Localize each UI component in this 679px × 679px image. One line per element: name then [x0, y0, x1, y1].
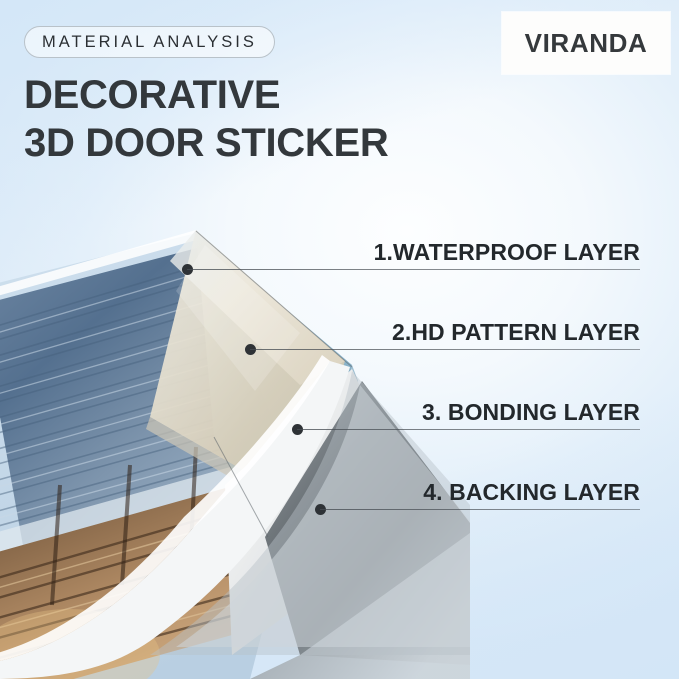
- callout-rule-bonding: [297, 429, 640, 430]
- kicker-label: MATERIAL ANALYSIS: [42, 33, 257, 52]
- material-analysis-infographic: 1.WATERPROOF LAYER 2.HD PATTERN LAYER 3.…: [0, 0, 679, 679]
- callout-rule-waterproof: [187, 269, 640, 270]
- page-title-line-2: 3D DOOR STICKER: [24, 123, 388, 163]
- brand-logo-box: VIRANDA: [502, 12, 670, 74]
- brand-name: VIRANDA: [525, 28, 648, 59]
- callout-rule-hd-pattern: [250, 349, 640, 350]
- page-title-line-1: DECORATIVE: [24, 75, 280, 115]
- callout-rule-backing: [320, 509, 640, 510]
- callout-label-bonding: 3. BONDING LAYER: [422, 399, 640, 426]
- kicker-pill: MATERIAL ANALYSIS: [24, 26, 275, 58]
- callout-label-hd-pattern: 2.HD PATTERN LAYER: [392, 319, 640, 346]
- callout-label-backing: 4. BACKING LAYER: [423, 479, 640, 506]
- callout-label-waterproof: 1.WATERPROOF LAYER: [374, 239, 640, 266]
